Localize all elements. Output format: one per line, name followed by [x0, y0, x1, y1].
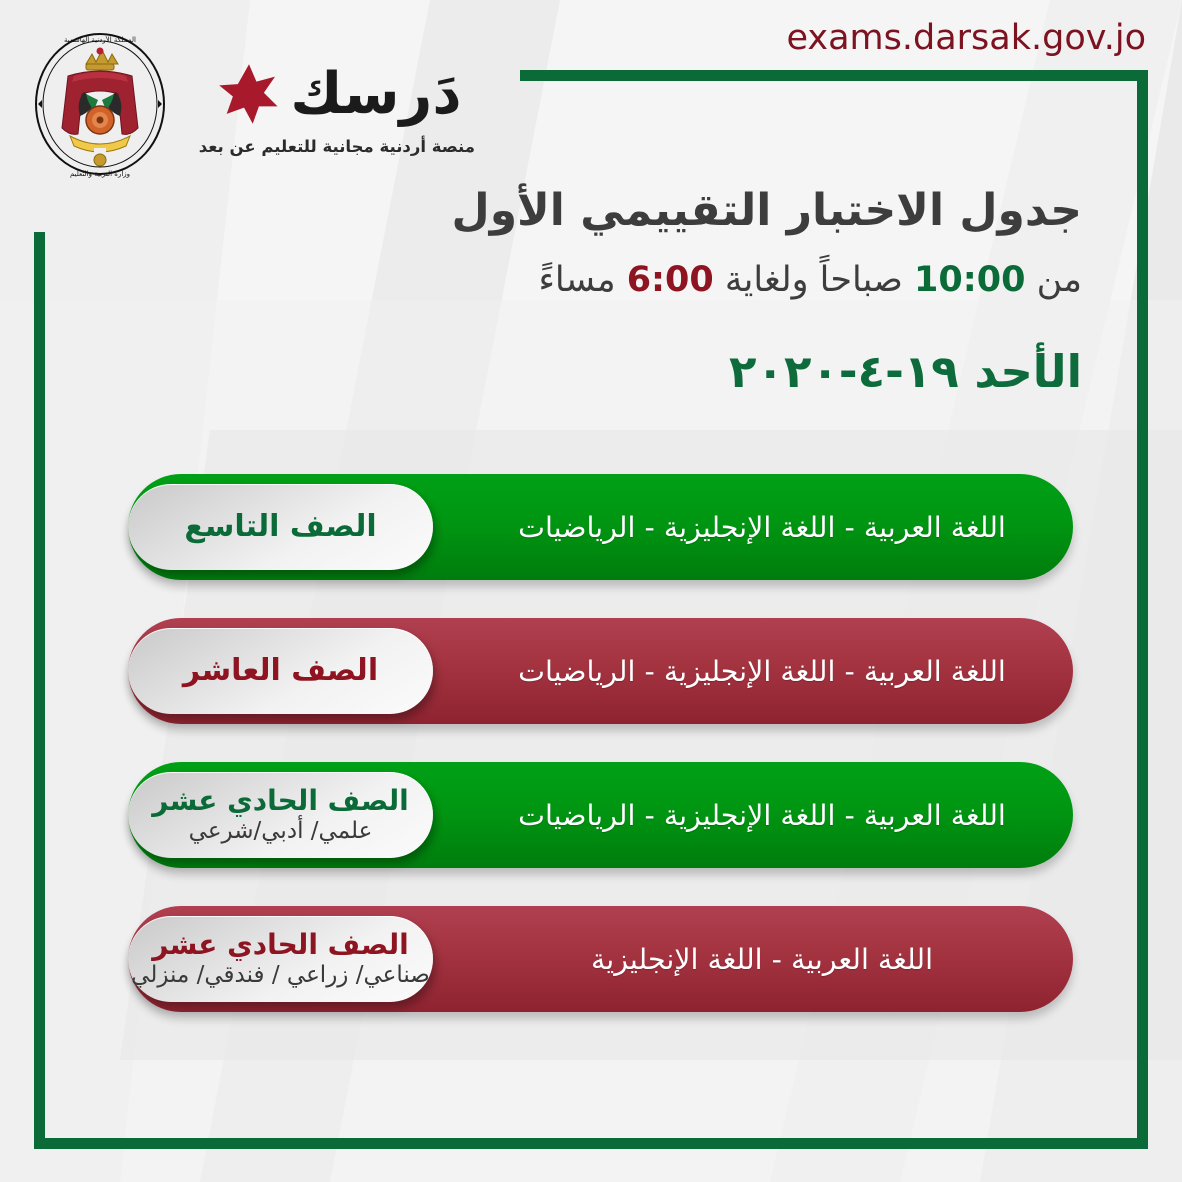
grade-label-main: الصف الحادي عشر: [152, 930, 408, 960]
subjects-list: اللغة العربية - اللغة الإنجليزية: [443, 943, 1073, 976]
darsak-brand-logo: دَرسك منصة أردنية مجانية للتعليم عن بعد: [205, 55, 475, 156]
time-suffix: مساءً: [538, 260, 615, 300]
schedule-row-grade10[interactable]: الصف العاشر اللغة العربية - اللغة الإنجل…: [128, 618, 1073, 724]
website-url[interactable]: exams.darsak.gov.jo: [786, 18, 1146, 58]
frame-bottom-border: [34, 1138, 1148, 1149]
subjects-list: اللغة العربية - اللغة الإنجليزية - الريا…: [443, 655, 1073, 688]
subjects-list: اللغة العربية - اللغة الإنجليزية - الريا…: [443, 511, 1073, 544]
schedule-row-grade9[interactable]: الصف التاسع اللغة العربية - اللغة الإنجل…: [128, 474, 1073, 580]
grade-label-pill[interactable]: الصف التاسع: [128, 484, 433, 570]
schedule-rows: الصف التاسع اللغة العربية - اللغة الإنجل…: [128, 474, 1073, 1050]
grade-label-sub: علمي/ أدبي/شرعي: [189, 819, 373, 844]
grade-label-main: الصف الحادي عشر: [152, 786, 408, 816]
jordan-coat-of-arms-icon: المملكة الأردنية الهاشمية وزارة التربية …: [24, 28, 176, 180]
frame-left-border: [34, 232, 45, 1149]
schedule-row-grade11-academic[interactable]: الصف الحادي عشر علمي/ أدبي/شرعي اللغة ال…: [128, 762, 1073, 868]
time-end: 6:00: [627, 260, 714, 300]
svg-text:المملكة الأردنية الهاشمية: المملكة الأردنية الهاشمية: [64, 35, 136, 44]
grade-label-pill[interactable]: الصف العاشر: [128, 628, 433, 714]
grade-label-main: الصف التاسع: [184, 511, 376, 543]
brand-word: دَرسك: [290, 66, 461, 123]
time-prefix: من: [1037, 260, 1082, 300]
exam-date: الأحد ١٩-٤-٢٠٢٠: [262, 345, 1082, 398]
grade-label-sub: صناعي/ زراعي / فندقي/ منزلي: [131, 963, 430, 988]
subjects-list: اللغة العربية - اللغة الإنجليزية - الريا…: [443, 799, 1073, 832]
grade-label-main: الصف العاشر: [183, 655, 378, 687]
grade-label-pill[interactable]: الصف الحادي عشر علمي/ أدبي/شرعي: [128, 772, 433, 858]
schedule-row-grade11-vocational[interactable]: الصف الحادي عشر صناعي/ زراعي / فندقي/ من…: [128, 906, 1073, 1012]
svg-text:وزارة التربية والتعليم: وزارة التربية والتعليم: [70, 170, 130, 178]
exam-schedule-poster: المملكة الأردنية الهاشمية وزارة التربية …: [0, 0, 1182, 1182]
time-middle: صباحاً ولغاية: [725, 260, 903, 300]
frame-top-border: [520, 70, 1148, 81]
grade-label-pill[interactable]: الصف الحادي عشر صناعي/ زراعي / فندقي/ من…: [128, 916, 433, 1002]
page-title: جدول الاختبار التقييمي الأول: [262, 183, 1082, 238]
time-start: 10:00: [914, 260, 1025, 300]
seven-pointed-star-icon: [218, 63, 280, 125]
exam-time-range: من 10:00 صباحاً ولغاية 6:00 مساءً: [262, 258, 1082, 304]
brand-tagline: منصة أردنية مجانية للتعليم عن بعد: [205, 137, 475, 156]
frame-right-border: [1137, 70, 1148, 1149]
